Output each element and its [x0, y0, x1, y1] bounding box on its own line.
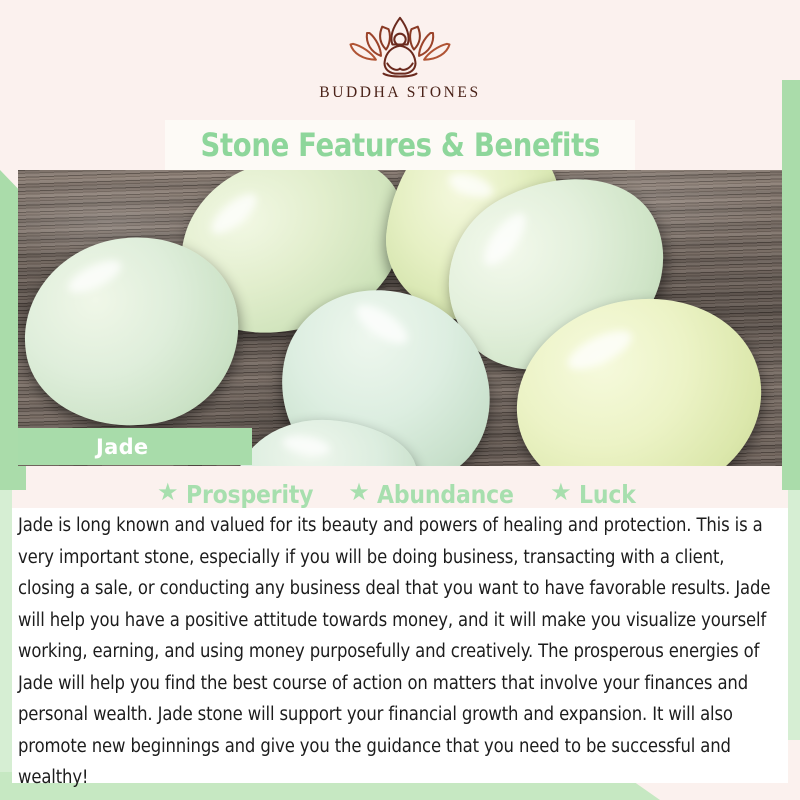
keyword-row: ★ Prosperity ★ Abundance ★ Luck [0, 478, 800, 510]
keyword-label: Prosperity [186, 480, 313, 509]
body-right-green-edge [788, 490, 800, 740]
brand-header: BUDDHA STONES [0, 0, 800, 120]
star-icon: ★ [348, 481, 370, 505]
description-text: Jade is long known and valued for its be… [18, 508, 782, 794]
section-title-band: Stone Features & Benefits [165, 120, 635, 170]
keyword-item: ★ Prosperity [157, 480, 330, 509]
page-title: Stone Features & Benefits [200, 126, 599, 164]
keyword-item: ★ Abundance [348, 480, 532, 509]
jade-stones-photo [18, 170, 782, 466]
body-left-green-edge [0, 490, 12, 775]
keyword-label: Abundance [377, 480, 514, 509]
lotus-meditation-figure-icon [336, 14, 464, 80]
star-icon: ★ [157, 481, 179, 505]
keyword-label: Luck [579, 480, 636, 509]
stone-name-label: Jade [96, 435, 148, 459]
description-panel: Jade is long known and valued for its be… [12, 508, 788, 783]
infographic-page: BUDDHA STONES [0, 0, 800, 800]
brand-wordmark: BUDDHA STONES [319, 84, 480, 102]
star-icon: ★ [550, 481, 572, 505]
stone-name-bar: Jade [18, 428, 252, 465]
keyword-item: ★ Luck [550, 480, 643, 509]
right-green-band [782, 80, 800, 490]
